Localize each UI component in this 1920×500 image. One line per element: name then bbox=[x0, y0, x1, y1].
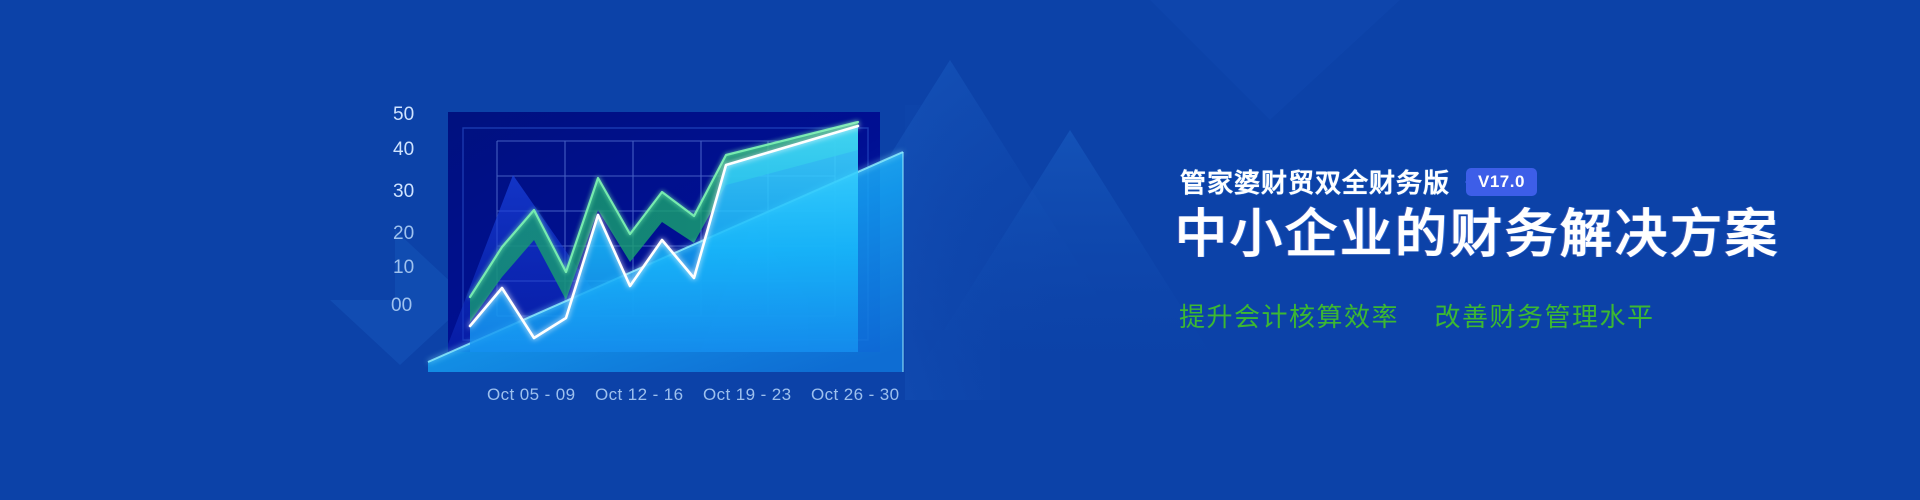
y-tick-40: 40 bbox=[393, 139, 414, 160]
product-name: 管家婆财贸双全财务版 bbox=[1180, 163, 1450, 200]
y-axis-labels: 50 40 30 20 10 00 bbox=[391, 104, 414, 316]
promo-banner: 50 40 30 20 10 00 Oct 05 - 09 Oct 12 - 1… bbox=[0, 0, 1920, 500]
x-axis-labels: Oct 05 - 09 Oct 12 - 16 Oct 19 - 23 Oct … bbox=[487, 385, 900, 404]
product-name-row: 管家婆财贸双全财务版 V17.0 bbox=[1180, 163, 1537, 200]
x-tick-3: Oct 19 - 23 bbox=[703, 385, 792, 404]
y-tick-50: 50 bbox=[393, 104, 414, 125]
x-tick-1: Oct 05 - 09 bbox=[487, 385, 576, 404]
x-tick-2: Oct 12 - 16 bbox=[595, 385, 684, 404]
y-tick-10: 10 bbox=[393, 257, 414, 278]
y-tick-20: 20 bbox=[393, 223, 414, 244]
y-tick-00: 00 bbox=[391, 295, 412, 316]
y-tick-30: 30 bbox=[393, 181, 414, 202]
chart-illustration: 50 40 30 20 10 00 Oct 05 - 09 Oct 12 - 1… bbox=[0, 0, 1000, 500]
x-tick-4: Oct 26 - 30 bbox=[811, 385, 900, 404]
subtitle: 提升会计核算效率 改善财务管理水平 bbox=[1179, 297, 1655, 334]
subtitle-part-2: 改善财务管理水平 bbox=[1434, 302, 1654, 332]
page-title: 中小企业的财务解决方案 bbox=[1175, 206, 1780, 266]
marketing-copy: 管家婆财贸双全财务版 V17.0 中小企业的财务解决方案 提升会计核算效率 改善… bbox=[1005, 0, 1920, 500]
subtitle-part-1: 提升会计核算效率 bbox=[1179, 302, 1399, 332]
line-chart-icon: 50 40 30 20 10 00 Oct 05 - 09 Oct 12 - 1… bbox=[0, 0, 1000, 500]
status-badge: V17.0 bbox=[1466, 168, 1537, 196]
